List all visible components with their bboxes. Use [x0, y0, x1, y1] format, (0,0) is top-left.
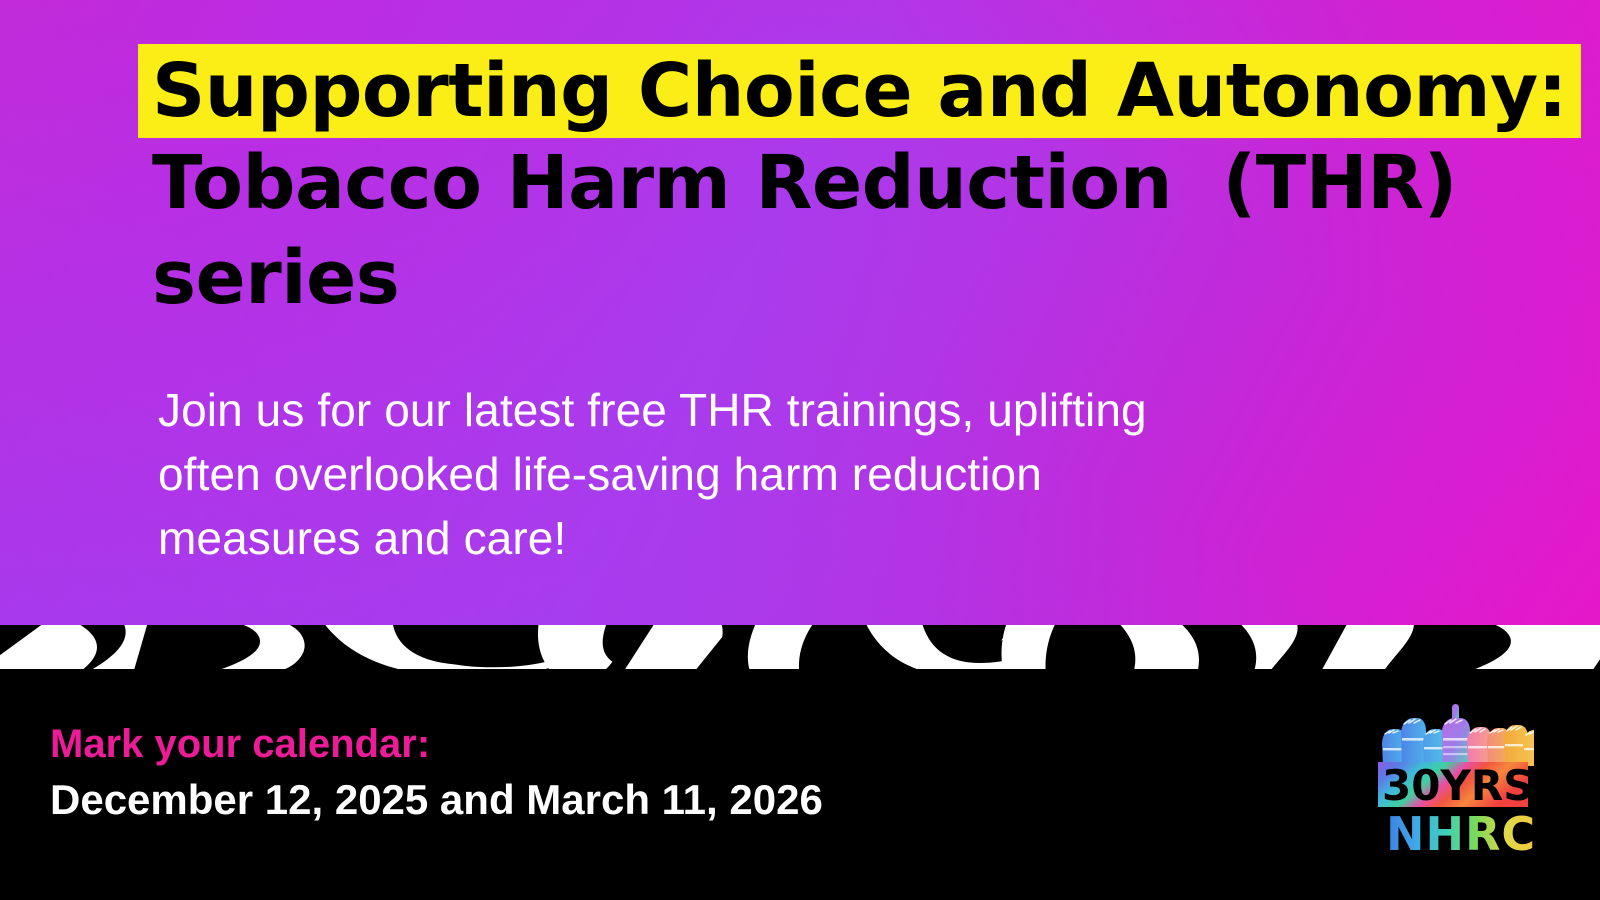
title-line-2: Tobacco Harm Reduction (THR): [152, 136, 1472, 231]
wave-pattern-graphic: [0, 625, 1600, 677]
poster-canvas: Supporting Choice and Autonomy: Tobacco …: [0, 0, 1600, 900]
hero-description: Join us for our latest free THR training…: [158, 378, 1358, 570]
org-wordmark: NHRC: [1386, 807, 1534, 858]
title-line-1-highlighted: Supporting Choice and Autonomy:: [138, 44, 1581, 138]
title-line-3: series: [152, 231, 1472, 326]
hero-description-line-2: often overlooked life-saving harm reduct…: [158, 442, 1358, 506]
years-text: 30YRS: [1382, 761, 1533, 810]
thirty-years-banner: 30YRS: [1378, 761, 1533, 810]
raised-fists-group: [1382, 704, 1534, 766]
hero-description-line-3: measures and care!: [158, 506, 1358, 570]
event-dates: December 12, 2025 and March 11, 2026: [50, 775, 823, 825]
decorative-wave-band: [0, 625, 1600, 677]
page-title: Supporting Choice and Autonomy: Tobacco …: [152, 44, 1472, 326]
calendar-label: Mark your calendar:: [50, 721, 430, 767]
nhrc-logo: 30YRS NHRC: [1366, 698, 1534, 858]
nhrc-30-years-raised-fists-icon: 30YRS NHRC: [1366, 698, 1534, 858]
hero-gradient-panel: Supporting Choice and Autonomy: Tobacco …: [0, 0, 1600, 626]
hero-description-line-1: Join us for our latest free THR training…: [158, 378, 1358, 442]
